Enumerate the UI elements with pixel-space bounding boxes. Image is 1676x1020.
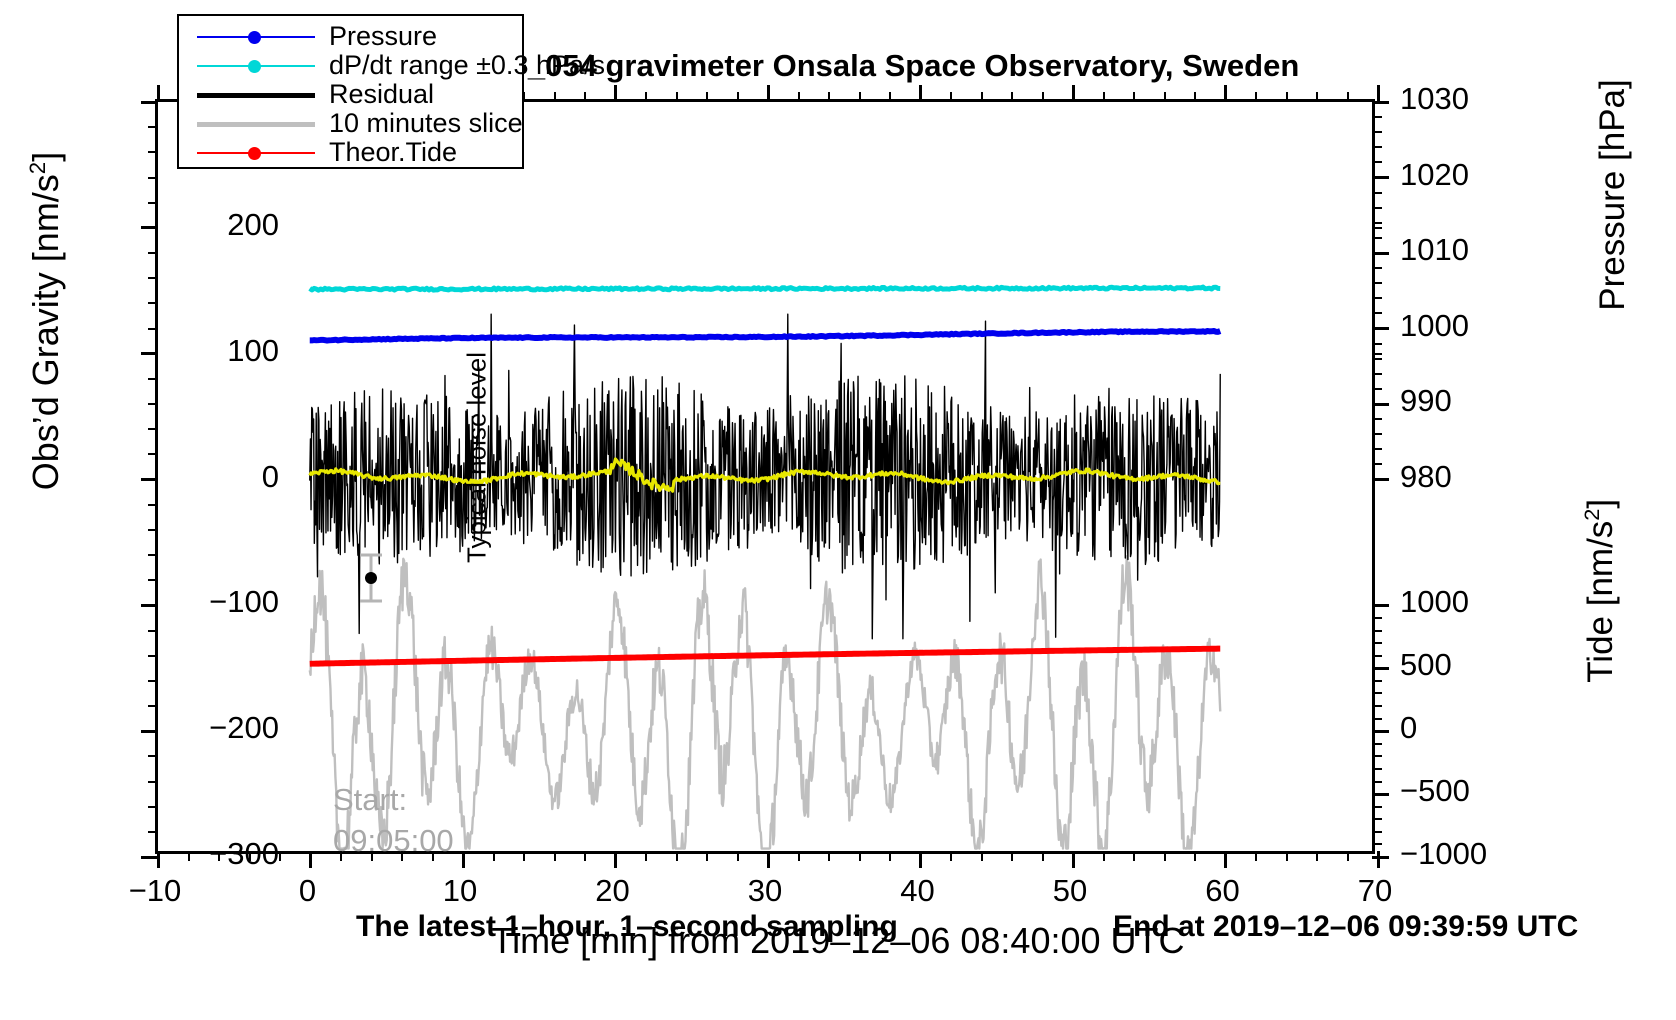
axis-tick — [1372, 161, 1382, 163]
legend-swatch — [197, 84, 315, 106]
axis-tick — [1372, 267, 1382, 269]
axis-tick — [1042, 92, 1044, 102]
axis-tick — [950, 92, 952, 102]
axis-tick — [148, 403, 158, 405]
y-tick-label-tide: 0 — [1400, 710, 1550, 746]
y-tick-label-pressure: 980 — [1400, 459, 1550, 495]
axis-tick — [1194, 92, 1196, 102]
x-tick-label: 0 — [238, 873, 378, 909]
axis-tick — [148, 806, 158, 808]
axis-tick — [1372, 227, 1382, 229]
axis-tick — [340, 851, 342, 861]
axis-tick — [1224, 85, 1227, 102]
axis-tick — [1164, 851, 1166, 861]
y-tick-label-pressure: 1030 — [1400, 81, 1550, 117]
axis-tick — [1372, 843, 1382, 845]
y-axis-label-tide-tail: ] — [1581, 499, 1620, 509]
chart-legend: PressuredP/dt range ±0.3 hPa/sResidual10… — [177, 14, 524, 169]
x-tick-label: 10 — [390, 873, 530, 909]
axis-tick — [1372, 768, 1382, 770]
series-layer — [158, 102, 1372, 851]
axis-tick — [1372, 818, 1382, 820]
axis-tick — [279, 851, 281, 861]
legend-dot-icon — [248, 31, 261, 44]
start-time-annotation: Start: 09:05:00 — [333, 780, 454, 862]
axis-tick — [737, 92, 739, 102]
axis-tick — [767, 85, 770, 102]
start-time-line2: 09:05:00 — [333, 821, 454, 862]
axis-tick — [148, 504, 158, 506]
x-tick-label: −10 — [85, 873, 225, 909]
axis-tick — [1011, 851, 1013, 861]
axis-tick — [828, 92, 830, 102]
axis-tick — [1372, 433, 1382, 435]
axis-tick — [523, 851, 525, 861]
axis-tick — [706, 92, 708, 102]
y-tick-label-gravity: 200 — [109, 207, 279, 243]
legend-label: 10 minutes slice — [315, 110, 523, 137]
typical-noise-level-label: Typical noise level — [462, 328, 493, 588]
axis-tick — [1372, 403, 1389, 406]
axis-tick — [614, 851, 617, 868]
axis-tick — [1372, 222, 1382, 224]
axis-tick — [1286, 92, 1288, 102]
axis-tick — [1372, 282, 1382, 284]
axis-tick — [1372, 116, 1382, 118]
axis-tick — [1042, 851, 1044, 861]
caption-sampling-info: The latest 1–hour, 1–second sampling — [356, 910, 898, 944]
axis-tick — [1372, 176, 1389, 179]
series-dpdt-range — [310, 287, 1221, 290]
legend-item-0[interactable]: Pressure — [179, 22, 522, 51]
axis-tick — [1316, 851, 1318, 861]
y-tick-label-gravity: 0 — [109, 459, 279, 495]
axis-tick — [493, 851, 495, 861]
legend-dot-icon — [248, 147, 261, 160]
axis-tick — [1164, 92, 1166, 102]
axis-tick — [1372, 831, 1382, 833]
axis-tick — [1372, 358, 1382, 360]
axis-tick — [859, 92, 861, 102]
axis-tick — [1372, 680, 1382, 682]
axis-tick — [798, 92, 800, 102]
axis-tick — [676, 851, 678, 861]
y-axis-label-tide: Tide [nm/s2] — [1579, 441, 1621, 741]
legend-item-3[interactable]: 10 minutes slice — [179, 109, 522, 138]
axis-tick — [1372, 312, 1382, 314]
axis-tick — [645, 92, 647, 102]
series-path — [310, 331, 1221, 341]
axis-tick — [1194, 851, 1196, 861]
axis-tick — [1372, 146, 1382, 148]
x-tick-label: 40 — [848, 873, 988, 909]
axis-tick — [148, 655, 158, 657]
axis-tick — [1372, 343, 1382, 345]
axis-tick — [148, 378, 158, 380]
axis-tick — [798, 851, 800, 861]
caption-end-time: End at 2019–12–06 09:39:59 UTC — [1113, 910, 1578, 944]
axis-tick — [1372, 463, 1382, 465]
y-tick-label-gravity: 100 — [109, 333, 279, 369]
axis-tick — [432, 851, 434, 861]
typical-noise-level-marker — [354, 552, 388, 604]
axis-tick — [148, 453, 158, 455]
axis-tick — [1372, 856, 1389, 859]
axis-tick — [1372, 327, 1389, 330]
axis-tick — [828, 851, 830, 861]
axis-tick — [737, 851, 739, 861]
axis-tick — [401, 851, 403, 861]
y-tick-label-gravity: −200 — [109, 710, 279, 746]
legend-item-2[interactable]: Residual — [179, 80, 522, 109]
axis-tick — [1372, 252, 1389, 255]
axis-tick — [148, 328, 158, 330]
y-axis-label-gravity-tail: ] — [25, 152, 66, 162]
axis-tick — [1372, 730, 1389, 733]
axis-tick — [148, 126, 158, 128]
axis-tick — [1255, 92, 1257, 102]
axis-tick — [1133, 92, 1135, 102]
axis-tick — [1103, 92, 1105, 102]
y-tick-label-gravity: −100 — [109, 584, 279, 620]
legend-item-4[interactable]: Theor.Tide — [179, 138, 522, 167]
y-tick-label-tide: −1000 — [1400, 836, 1550, 872]
axis-tick — [1372, 806, 1382, 808]
x-tick-label: 70 — [1305, 873, 1445, 909]
axis-tick — [1372, 630, 1382, 632]
axis-tick — [614, 85, 617, 102]
axis-tick — [1372, 604, 1389, 607]
axis-tick — [1133, 851, 1135, 861]
axis-tick — [950, 851, 952, 861]
axis-tick — [584, 92, 586, 102]
axis-tick — [1347, 92, 1349, 102]
y-tick-label-tide: 1000 — [1400, 584, 1550, 620]
axis-tick — [1372, 667, 1389, 670]
axis-tick — [706, 851, 708, 861]
axis-tick — [1372, 207, 1382, 209]
chart-canvas: SCG_054 gravimeter Onsala Space Observat… — [0, 0, 1676, 1020]
legend-swatch — [197, 142, 315, 164]
axis-tick — [148, 781, 158, 783]
axis-tick — [148, 680, 158, 682]
axis-tick — [148, 630, 158, 632]
axis-tick — [148, 529, 158, 531]
axis-tick — [981, 851, 983, 861]
axis-tick — [1011, 92, 1013, 102]
y-axis-label-gravity-text: Obs’d Gravity [nm/s — [25, 174, 66, 490]
axis-tick — [148, 302, 158, 304]
axis-tick — [148, 277, 158, 279]
axis-tick — [1372, 192, 1382, 194]
y-axis-label-pressure: Pressure [hPa] — [1593, 30, 1633, 360]
start-time-line1: Start: — [333, 780, 454, 821]
y-tick-label-pressure: 1020 — [1400, 157, 1550, 193]
axis-tick — [148, 177, 158, 179]
axis-tick — [859, 851, 861, 861]
axis-tick — [148, 151, 158, 153]
axis-tick — [309, 851, 312, 868]
y-axis-label-gravity: Obs’d Gravity [nm/s2] — [25, 71, 67, 571]
axis-tick — [676, 92, 678, 102]
legend-label: Theor.Tide — [315, 139, 457, 166]
axis-tick — [889, 851, 891, 861]
axis-tick — [1372, 655, 1382, 657]
legend-line-icon — [197, 122, 315, 127]
legend-swatch — [197, 26, 315, 48]
axis-tick — [148, 428, 158, 430]
axis-tick — [148, 755, 158, 757]
legend-label: dP/dt range ±0.3 hPa/s — [315, 52, 605, 79]
axis-tick — [148, 202, 158, 204]
axis-tick — [1372, 373, 1382, 375]
axis-tick — [919, 851, 922, 868]
y-tick-label-tide: 500 — [1400, 647, 1550, 683]
legend-swatch — [197, 113, 315, 135]
legend-label: Residual — [315, 81, 434, 108]
axis-tick — [767, 851, 770, 868]
legend-swatch — [197, 55, 315, 77]
axis-tick — [1072, 851, 1075, 868]
y-tick-label-pressure: 990 — [1400, 383, 1550, 419]
series-pressure — [310, 331, 1221, 341]
axis-tick — [1372, 793, 1389, 796]
axis-tick — [1286, 851, 1288, 861]
axis-tick — [1372, 705, 1382, 707]
axis-tick — [1372, 642, 1382, 644]
y-axis-label-gravity-sup: 2 — [25, 162, 50, 174]
axis-tick — [554, 92, 556, 102]
axis-tick — [1372, 718, 1382, 720]
axis-tick — [148, 252, 158, 254]
y-tick-label-pressure: 1000 — [1400, 308, 1550, 344]
axis-tick — [462, 851, 465, 868]
axis-tick — [371, 851, 373, 861]
axis-tick — [1072, 85, 1075, 102]
axis-tick — [1372, 478, 1389, 481]
axis-tick — [1372, 237, 1382, 239]
x-tick-label: 50 — [1000, 873, 1140, 909]
axis-tick — [1372, 755, 1382, 757]
axis-tick — [1372, 448, 1382, 450]
axis-tick — [1316, 92, 1318, 102]
legend-item-1[interactable]: dP/dt range ±0.3 hPa/s — [179, 51, 522, 80]
y-tick-label-tide: −500 — [1400, 773, 1550, 809]
axis-tick — [148, 705, 158, 707]
plot-area: Typical noise level Start: 09:05:00 The … — [155, 99, 1375, 854]
axis-tick — [1372, 617, 1382, 619]
axis-tick — [1224, 851, 1227, 868]
axis-tick — [1347, 851, 1349, 861]
axis-tick — [148, 554, 158, 556]
legend-label: Pressure — [315, 23, 437, 50]
axis-tick — [1372, 418, 1382, 420]
axis-tick — [1372, 388, 1382, 390]
axis-tick — [645, 851, 647, 861]
series-path — [310, 287, 1221, 290]
axis-tick — [1255, 851, 1257, 861]
axis-tick — [1372, 101, 1389, 104]
axis-tick — [148, 579, 158, 581]
y-axis-label-tide-text: Tide [nm/s — [1581, 521, 1620, 683]
axis-tick — [584, 851, 586, 861]
y-tick-label-gravity: −300 — [109, 836, 279, 872]
legend-dot-icon — [248, 60, 261, 73]
axis-tick — [1103, 851, 1105, 861]
y-axis-label-tide-sup: 2 — [1579, 509, 1604, 521]
axis-tick — [1372, 353, 1382, 355]
axis-tick — [554, 851, 556, 861]
axis-tick — [919, 85, 922, 102]
legend-line-icon — [197, 93, 315, 98]
x-tick-label: 60 — [1153, 873, 1293, 909]
axis-tick — [1372, 692, 1382, 694]
y-tick-label-pressure: 1010 — [1400, 232, 1550, 268]
axis-tick — [1372, 131, 1382, 133]
axis-tick — [1372, 297, 1382, 299]
axis-tick — [148, 831, 158, 833]
axis-tick — [889, 92, 891, 102]
axis-tick — [981, 92, 983, 102]
x-tick-label: 20 — [543, 873, 683, 909]
axis-tick — [1377, 851, 1380, 868]
x-tick-label: 30 — [695, 873, 835, 909]
axis-tick — [1377, 85, 1380, 102]
axis-tick — [1372, 781, 1382, 783]
axis-tick — [1372, 743, 1382, 745]
